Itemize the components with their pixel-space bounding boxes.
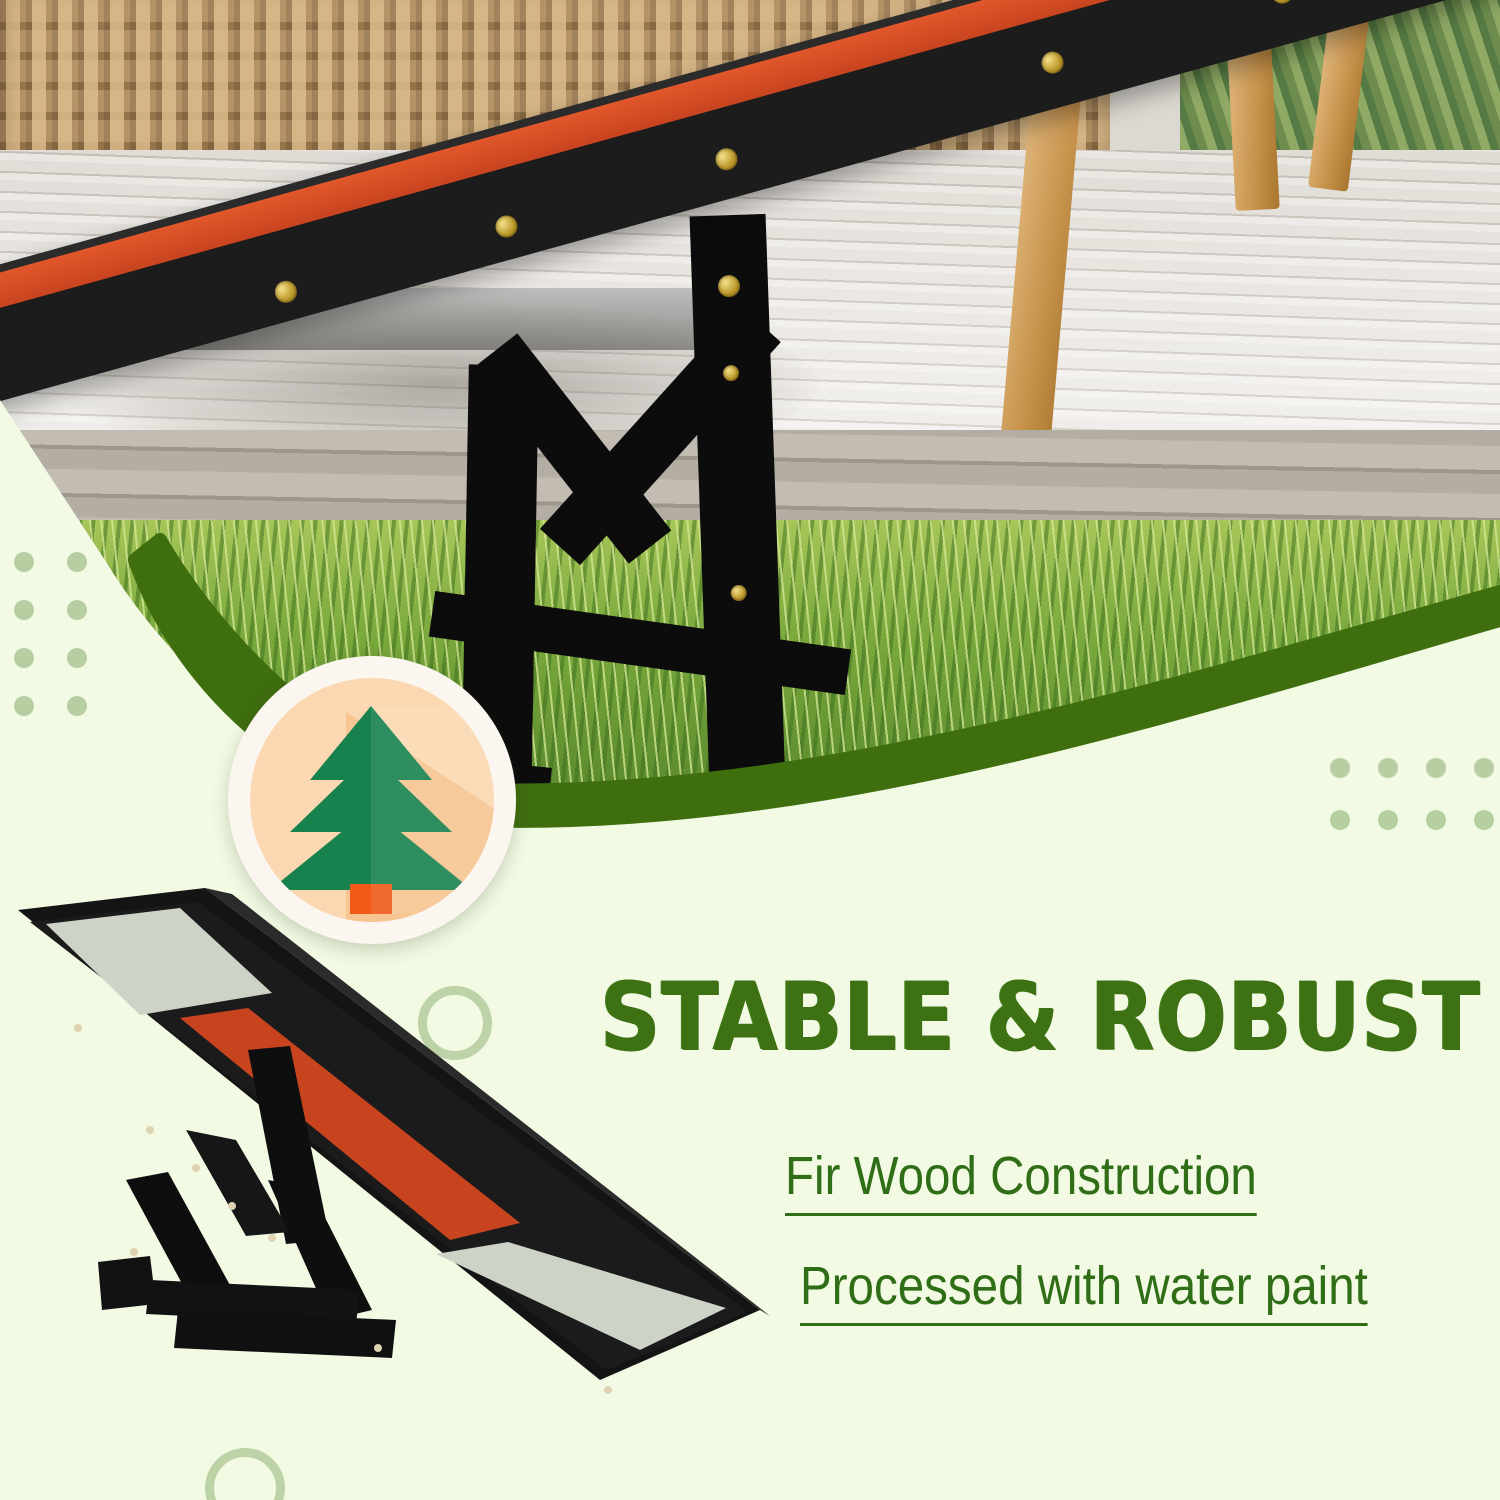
brass-screw-icon: [1039, 49, 1066, 76]
page-title: STABLE & ROBUST: [600, 975, 1498, 1061]
dot: [14, 696, 34, 716]
support-foot-left: [98, 1256, 156, 1310]
lifestyle-photo: [0, 0, 1500, 880]
dot: [67, 600, 87, 620]
text-block: STABLE & ROBUST Fir Wood Construction Pr…: [600, 975, 1480, 1050]
brass-screw-icon: [718, 275, 741, 298]
dot-grid-right: [1330, 758, 1500, 862]
feature-line-1-wrap: Fir Wood Construction: [785, 1145, 1321, 1216]
dot: [14, 600, 34, 620]
brass-screw-icon: [730, 585, 747, 602]
dot: [67, 696, 87, 716]
dot: [1474, 758, 1494, 778]
dot: [1378, 758, 1398, 778]
dot: [14, 648, 34, 668]
dot: [1426, 758, 1446, 778]
dot: [1330, 810, 1350, 830]
dot: [1474, 810, 1494, 830]
brass-screw-icon: [493, 213, 520, 240]
poster-canvas: STABLE & ROBUST Fir Wood Construction Pr…: [0, 0, 1500, 1500]
feature-line-1: Fir Wood Construction: [785, 1145, 1257, 1216]
dot: [67, 648, 87, 668]
dot-grid-left: [14, 552, 120, 744]
dot: [1378, 810, 1398, 830]
brass-screw-icon: [272, 278, 299, 305]
dot: [14, 552, 34, 572]
dot: [1330, 758, 1350, 778]
brass-screw-icon: [723, 365, 740, 382]
feature-line-2-wrap: Processed with water paint: [800, 1255, 1445, 1326]
brass-screw-icon: [713, 146, 740, 173]
dot: [67, 552, 87, 572]
dot: [1426, 810, 1446, 830]
feature-line-2: Processed with water paint: [800, 1255, 1368, 1326]
support-base: [174, 1310, 396, 1358]
brass-screw-icon: [1269, 0, 1296, 6]
